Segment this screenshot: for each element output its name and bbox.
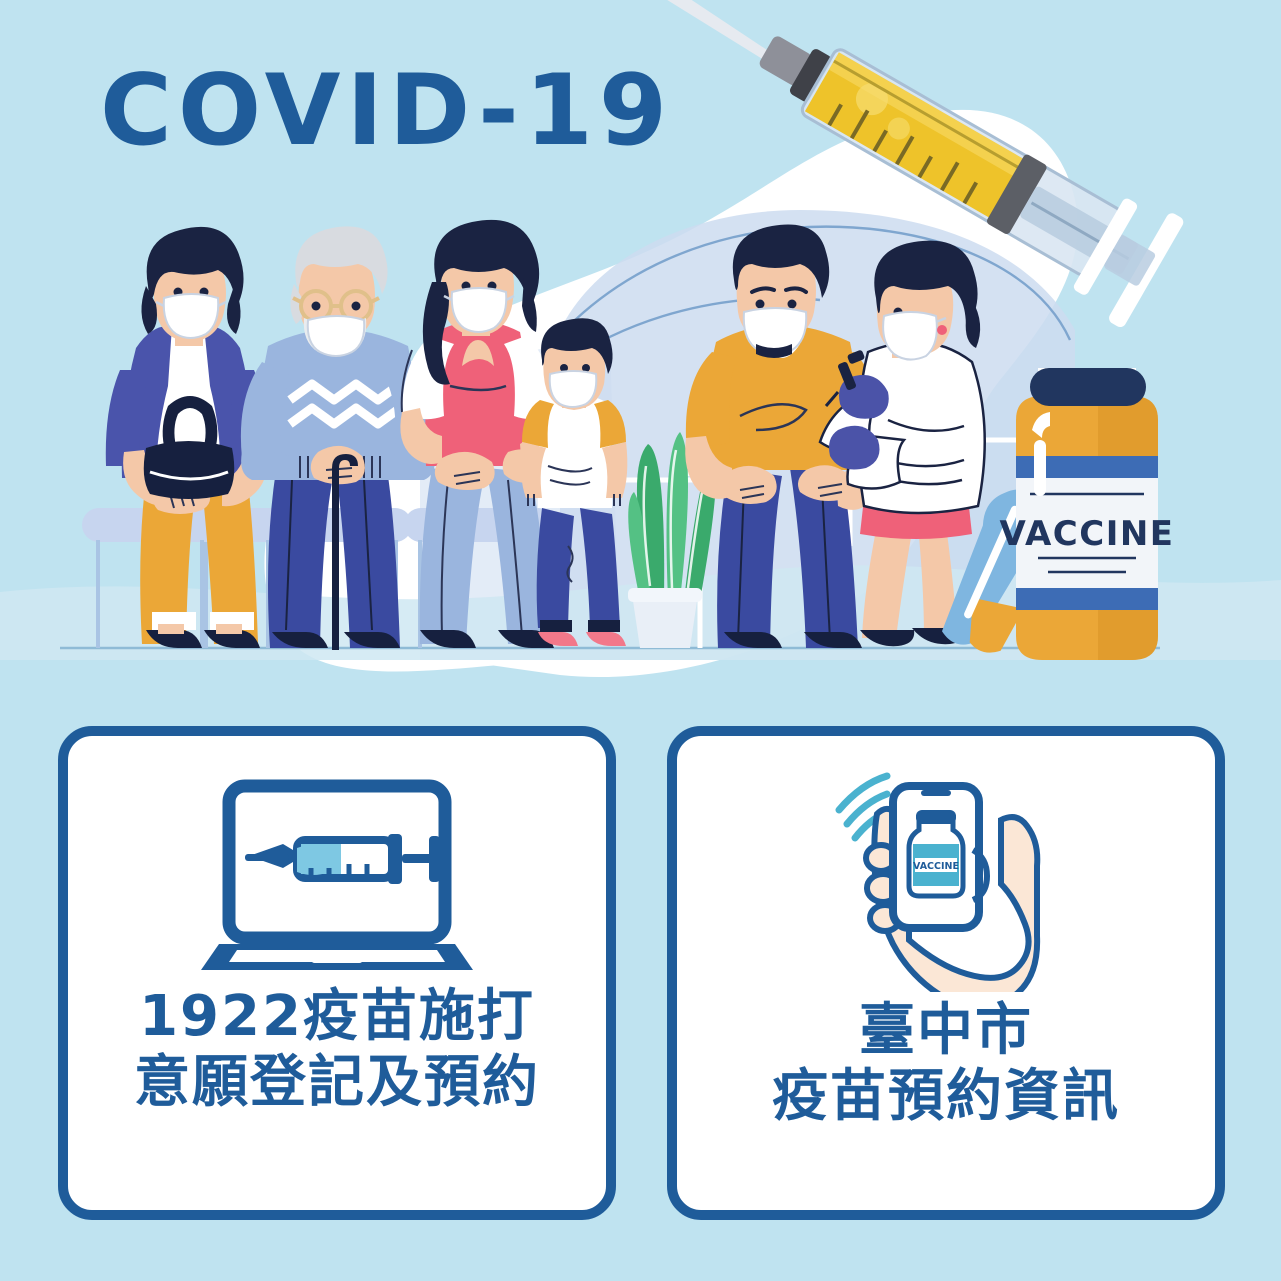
vaccine-bottle: VACCINE: [999, 368, 1174, 660]
page-title: COVID-19: [100, 62, 673, 160]
laptop-with-syringe-icon: [197, 778, 477, 978]
card-1922-line2: 意願登記及預約: [134, 1050, 540, 1116]
poster-root: VACCINE: [0, 0, 1281, 1281]
card-taichung-line1: 臺中市: [859, 998, 1033, 1063]
bottle-label-text: VACCINE: [999, 514, 1174, 554]
card-1922-registration[interactable]: 1922疫苗施打 意願登記及預約: [58, 726, 616, 1220]
card-1922-line1: 1922疫苗施打: [139, 984, 535, 1049]
phone-vial-label: VACCINE: [913, 861, 959, 872]
card-taichung-label: 臺中市 疫苗預約資訊: [772, 998, 1120, 1129]
card-taichung-line2: 疫苗預約資訊: [772, 1064, 1120, 1130]
card-taichung-info[interactable]: VACCINE 臺中市 疫苗預約資訊: [667, 726, 1225, 1220]
hand-holding-phone-vaccine-icon: VACCINE: [821, 762, 1071, 992]
card-1922-label: 1922疫苗施打 意願登記及預約: [134, 984, 540, 1115]
